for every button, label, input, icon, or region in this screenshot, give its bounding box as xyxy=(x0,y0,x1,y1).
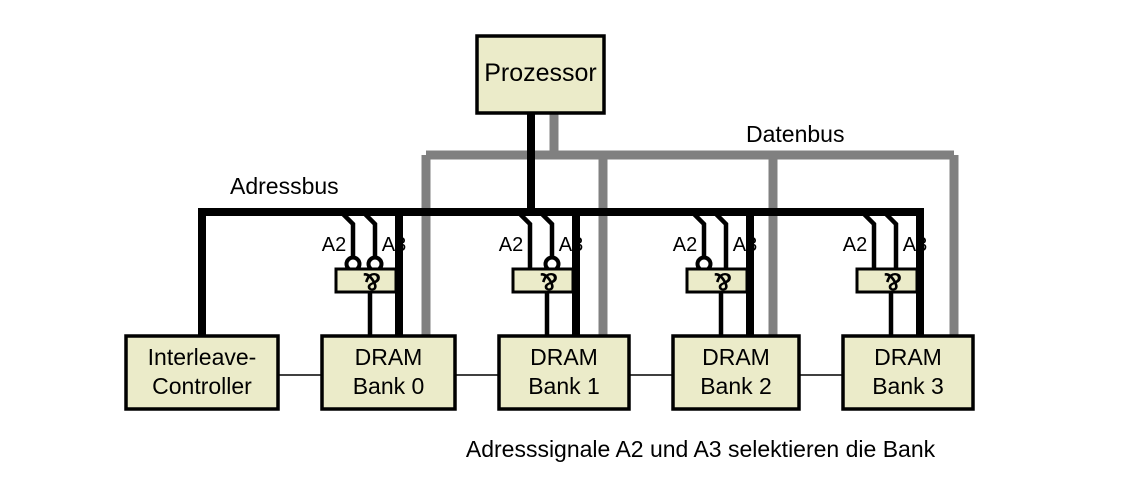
dram-bank1-label-line1: DRAM xyxy=(499,345,629,371)
bank3-a2-label: A2 xyxy=(838,234,872,256)
bank1-gate-symbol: & xyxy=(529,267,569,295)
interleave-controller-label-line2: Controller xyxy=(126,374,278,400)
bank2-a3-wire xyxy=(714,212,726,269)
bank1-a3-wire xyxy=(540,212,552,261)
dram-bank2-label-line2: Bank 2 xyxy=(673,374,799,400)
bank2-a2-label: A2 xyxy=(668,234,702,256)
bank1-a2-label: A2 xyxy=(494,234,528,256)
bank2-a3-label: A3 xyxy=(728,234,762,256)
processor-label: Prozessor xyxy=(477,59,604,87)
data-bus-label: Datenbus xyxy=(746,122,844,148)
bank2-gate-symbol: & xyxy=(703,267,743,295)
bank3-a3-label: A3 xyxy=(898,234,932,256)
dram-bank3-label-line2: Bank 3 xyxy=(843,374,973,400)
bank0-a2-label: A2 xyxy=(317,234,351,256)
dram-bank3-label-line1: DRAM xyxy=(843,345,973,371)
bank1-a3-label: A3 xyxy=(554,234,588,256)
dram-bank0-label-line1: DRAM xyxy=(322,345,455,371)
bank3-gate-symbol: & xyxy=(873,267,913,295)
bank0-a3-wire xyxy=(363,212,375,261)
bank0-a3-label: A3 xyxy=(377,234,411,256)
dram-bank0-label-line2: Bank 0 xyxy=(322,374,455,400)
bank0-gate-symbol: & xyxy=(352,267,392,295)
dram-bank1-label-line2: Bank 1 xyxy=(499,374,629,400)
interleave-controller-label-line1: Interleave- xyxy=(126,345,278,371)
dram-bank2-label-line1: DRAM xyxy=(673,345,799,371)
diagram-caption: Adresssignale A2 und A3 selektieren die … xyxy=(0,437,1146,463)
address-bus-label: Adressbus xyxy=(230,174,339,200)
diagram-canvas: Prozessor Adressbus Datenbus A2 A3 & A2 … xyxy=(0,0,1146,500)
bank3-a3-wire xyxy=(884,212,896,269)
